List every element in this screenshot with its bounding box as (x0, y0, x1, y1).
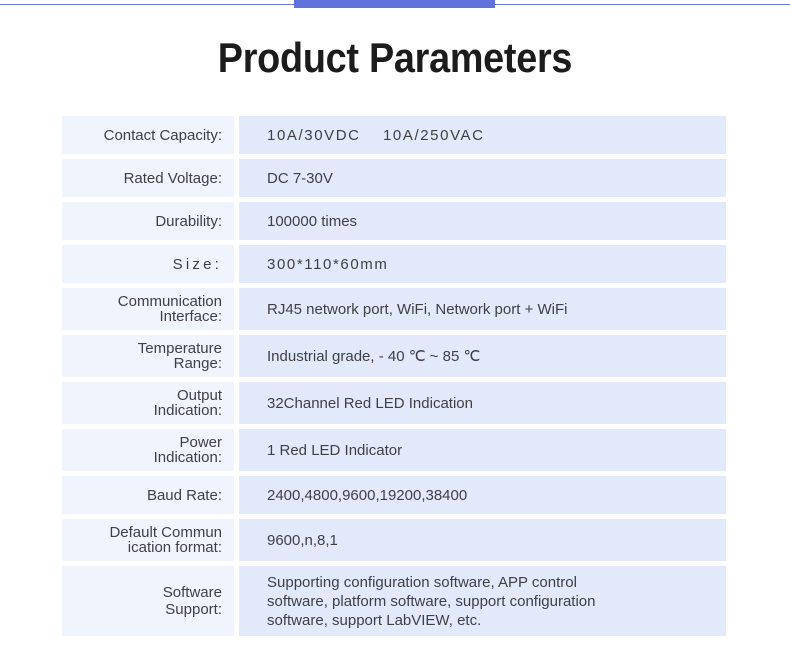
spec-label-text: Contact Capacity: (104, 127, 222, 144)
spec-value-text: 300*110*60mm (267, 255, 389, 274)
spec-label-text: Size: (173, 256, 222, 273)
spec-value-text: 32Channel Red LED Indication (267, 394, 473, 413)
spec-label-text: Durability: (155, 213, 222, 230)
spec-label-text: Baud Rate: (147, 487, 222, 504)
product-parameters-table: Contact Capacity: 10A/30VDC 10A/250VAC R… (62, 116, 726, 641)
table-row: Contact Capacity: 10A/30VDC 10A/250VAC (62, 116, 726, 154)
spec-value-cell: 1 Red LED Indicator (239, 429, 726, 471)
spec-value-text: Industrial grade, - 40 ℃ ~ 85 ℃ (267, 347, 480, 366)
spec-value-cell: 32Channel Red LED Indication (239, 382, 726, 424)
spec-value-text: Supporting configuration software, APP c… (267, 573, 596, 630)
spec-value-text: 100000 times (267, 212, 357, 231)
table-row: Software Support: Supporting configurati… (62, 566, 726, 636)
spec-value-cell: RJ45 network port, WiFi, Network port + … (239, 288, 726, 330)
spec-value-cell: 2400,4800,9600,19200,38400 (239, 476, 726, 514)
spec-value-cell: DC 7-30V (239, 159, 726, 197)
spec-value-cell: 100000 times (239, 202, 726, 240)
spec-label-cell: Output Indication: (62, 382, 234, 424)
table-row: Rated Voltage: DC 7-30V (62, 159, 726, 197)
spec-value-cell: Supporting configuration software, APP c… (239, 566, 726, 636)
table-row: Power Indication: 1 Red LED Indicator (62, 429, 726, 471)
spec-value-cell: 10A/30VDC 10A/250VAC (239, 116, 726, 154)
table-row: Temperature Range: Industrial grade, - 4… (62, 335, 726, 377)
spec-value-text: DC 7-30V (267, 169, 333, 188)
spec-label-cell: Temperature Range: (62, 335, 234, 377)
spec-label-text: Rated Voltage: (124, 170, 222, 187)
spec-label-text: Software Support: (163, 584, 222, 618)
spec-label-cell: Software Support: (62, 566, 234, 636)
spec-label-cell: Rated Voltage: (62, 159, 234, 197)
spec-label-text: Default Commun ication format: (109, 525, 222, 555)
spec-value-text: 2400,4800,9600,19200,38400 (267, 486, 467, 505)
table-row: Durability: 100000 times (62, 202, 726, 240)
spec-value-cell: 9600,n,8,1 (239, 519, 726, 561)
table-row: Size: 300*110*60mm (62, 245, 726, 283)
spec-value-text: 1 Red LED Indicator (267, 441, 402, 460)
spec-label-cell: Baud Rate: (62, 476, 234, 514)
spec-value-cell: Industrial grade, - 40 ℃ ~ 85 ℃ (239, 335, 726, 377)
table-row: Output Indication: 32Channel Red LED Ind… (62, 382, 726, 424)
spec-label-text: Power Indication: (154, 435, 222, 465)
spec-value-text: 9600,n,8,1 (267, 531, 338, 550)
table-row: Default Commun ication format: 9600,n,8,… (62, 519, 726, 561)
top-divider (0, 0, 790, 10)
spec-label-cell: Durability: (62, 202, 234, 240)
spec-label-cell: Power Indication: (62, 429, 234, 471)
spec-label-cell: Size: (62, 245, 234, 283)
page-title: Product Parameters (40, 33, 751, 83)
table-row: Communication Interface: RJ45 network po… (62, 288, 726, 330)
spec-label-cell: Contact Capacity: (62, 116, 234, 154)
top-divider-accent-bar (294, 0, 495, 8)
spec-label-cell: Communication Interface: (62, 288, 234, 330)
spec-value-cell: 300*110*60mm (239, 245, 726, 283)
spec-label-text: Temperature Range: (138, 341, 222, 371)
spec-label-cell: Default Commun ication format: (62, 519, 234, 561)
spec-label-text: Output Indication: (154, 388, 222, 418)
spec-label-text: Communication Interface: (118, 294, 222, 324)
spec-value-text: 10A/30VDC 10A/250VAC (267, 126, 485, 145)
spec-value-text: RJ45 network port, WiFi, Network port + … (267, 300, 567, 319)
table-row: Baud Rate: 2400,4800,9600,19200,38400 (62, 476, 726, 514)
